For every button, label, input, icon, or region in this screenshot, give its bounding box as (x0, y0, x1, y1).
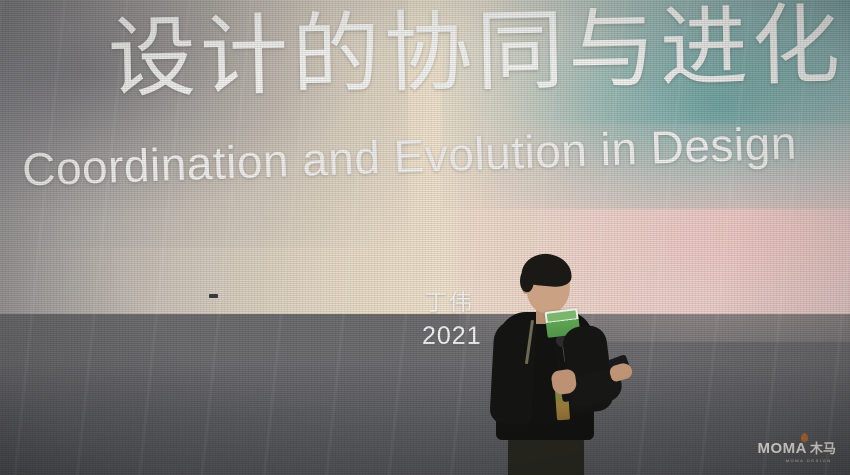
speaker-person (470, 246, 650, 475)
led-screen-background (0, 0, 850, 475)
logo-wordmark: MOMA (757, 441, 807, 456)
logo-wordmark-row: MOMA 木马 (757, 441, 836, 456)
conference-stage-photo: 设计的协同与进化 Coordination and Evolution in D… (0, 0, 850, 475)
logo-wordmark-chinese: 木马 (810, 442, 836, 455)
sky-grey-haze (0, 0, 408, 247)
sea-foreground-shadow (0, 361, 850, 475)
boat-on-horizon (209, 294, 218, 298)
microphone-flag-stripe (547, 310, 577, 321)
moma-logo: MOMA 木马 MOMA DESIGN (757, 441, 836, 463)
logo-tagline: MOMA DESIGN (786, 458, 832, 463)
